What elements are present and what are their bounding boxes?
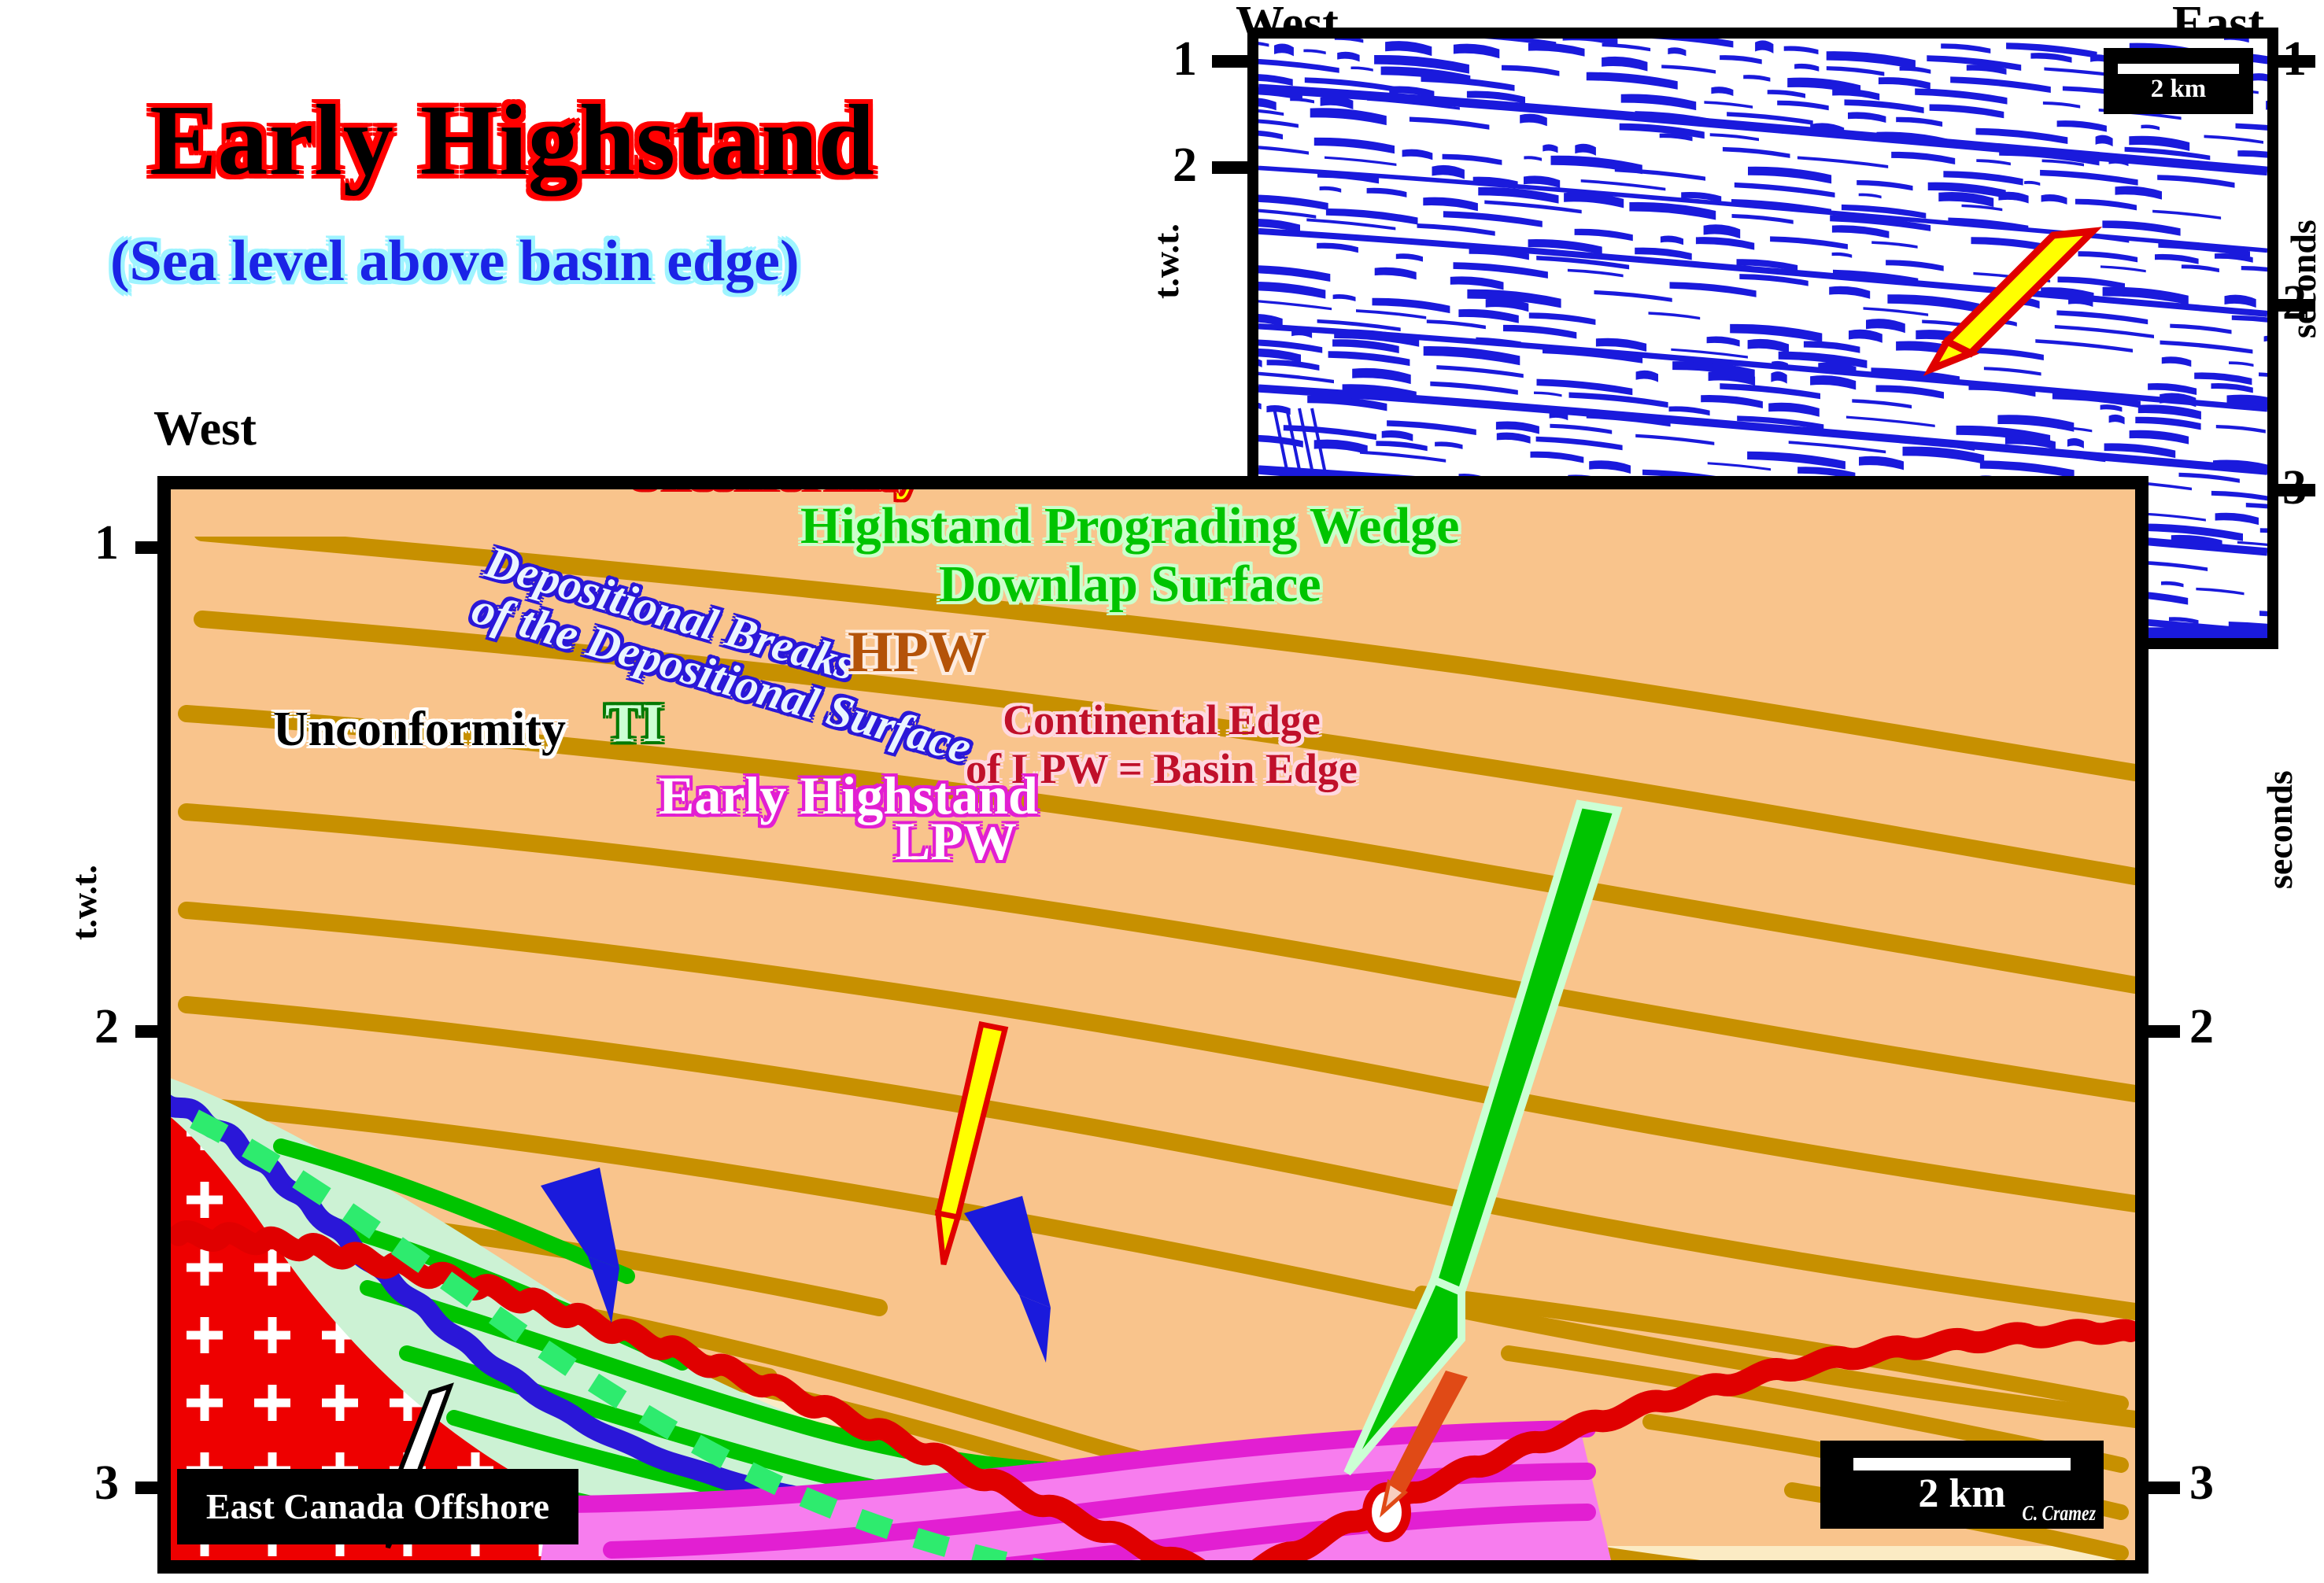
main-left-axis-name: t.w.t. bbox=[63, 865, 105, 940]
main-seismic-canvas: HPW Unconformity Highstand Prograding We… bbox=[171, 489, 2135, 1560]
label-downlap-line-2: Downlap Surface bbox=[800, 555, 1459, 614]
inset-right-tick-3: 3 bbox=[2282, 460, 2307, 516]
main-location-box: East Canada Offshore bbox=[177, 1469, 578, 1544]
inset-left-tick-2: 2 bbox=[1173, 138, 1197, 194]
label-ti: TI bbox=[605, 692, 663, 755]
page-subtitle: (Sea level above basin edge) bbox=[110, 228, 800, 295]
main-left-tick-3: 3 bbox=[94, 1456, 119, 1511]
main-right-tick-3: 3 bbox=[2189, 1456, 2214, 1511]
label-cont-edge-line-1: Continental Edge bbox=[966, 696, 1358, 744]
main-credit-label: C. Cramez bbox=[2022, 1501, 2096, 1526]
label-downlap-surface: Highstand Prograding Wedge Downlap Surfa… bbox=[800, 497, 1459, 614]
main-left-tick-2: 2 bbox=[94, 999, 119, 1055]
label-downlap-line-1: Highstand Prograding Wedge bbox=[800, 497, 1459, 555]
label-lpw: LPW bbox=[895, 810, 1017, 873]
inset-right-tick-1: 1 bbox=[2282, 31, 2307, 87]
page-title: Early Highstand bbox=[150, 83, 875, 198]
main-location-label: East Canada Offshore bbox=[177, 1469, 578, 1544]
inset-scale-bar: 2 km bbox=[2104, 48, 2253, 114]
inset-scale-bar-line bbox=[2118, 64, 2239, 74]
main-seismic-panel: HPW Unconformity Highstand Prograding We… bbox=[157, 476, 2148, 1574]
main-right-tick-2: 2 bbox=[2189, 999, 2214, 1055]
main-left-tick-1: 1 bbox=[94, 515, 119, 571]
main-right-axis-name: seconds bbox=[2259, 770, 2300, 889]
label-unconformity-bottom: Unconformity bbox=[273, 702, 566, 758]
inset-left-tick-1: 1 bbox=[1173, 31, 1197, 87]
main-section-svg bbox=[171, 489, 2135, 1560]
inset-right-axis-name: seconds bbox=[2282, 220, 2324, 338]
inset-left-axis-name: t.w.t. bbox=[1145, 223, 1187, 299]
main-west-label: West bbox=[153, 401, 257, 457]
inset-scale-bar-label: 2 km bbox=[2104, 75, 2253, 104]
main-scale-bar: 2 km C. Cramez bbox=[1820, 1441, 2104, 1529]
label-hpw-lower: HPW bbox=[848, 619, 987, 686]
main-scale-bar-line bbox=[1853, 1458, 2071, 1470]
